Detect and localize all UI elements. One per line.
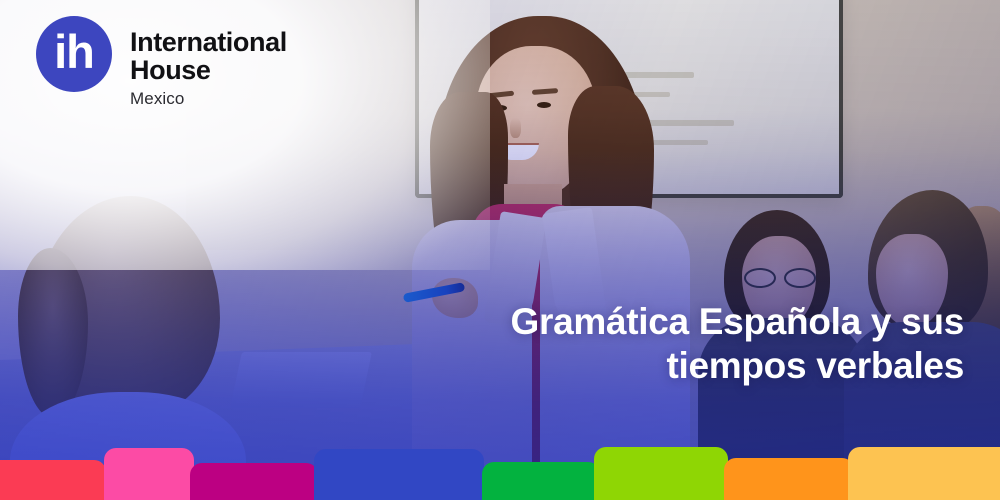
- brand-line-1: International: [130, 28, 287, 56]
- brand-name: International House Mexico: [130, 16, 287, 109]
- color-swatch-magenta: [190, 463, 318, 500]
- brand-line-2: House: [130, 56, 287, 84]
- color-swatch-pink: [104, 448, 194, 500]
- color-swatch-blue: [314, 449, 484, 500]
- headline-line-2: tiempos verbales: [344, 344, 964, 388]
- course-banner: ih International House Mexico Gramática …: [0, 0, 1000, 500]
- color-swatch-lime: [594, 447, 728, 500]
- color-swatch-strip: [0, 420, 1000, 500]
- color-swatch-yellow: [848, 447, 1000, 500]
- ih-circle-logo-icon: ih: [36, 16, 112, 92]
- ih-monogram: ih: [54, 28, 94, 75]
- color-swatch-red: [0, 460, 106, 500]
- brand-country: Mexico: [130, 89, 287, 109]
- color-swatch-green: [482, 462, 600, 500]
- brand-logo[interactable]: ih International House Mexico: [36, 16, 287, 109]
- headline-line-1: Gramática Española y sus: [344, 300, 964, 344]
- color-swatch-orange: [724, 458, 854, 500]
- page-title: Gramática Española y sus tiempos verbale…: [344, 300, 964, 387]
